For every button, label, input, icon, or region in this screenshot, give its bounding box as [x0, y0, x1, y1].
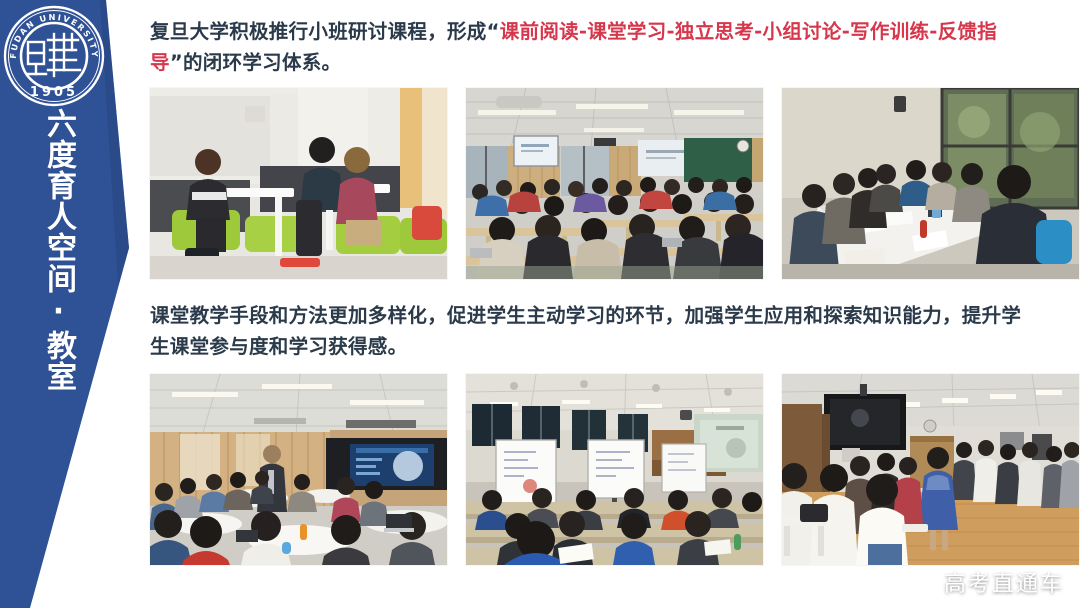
quote-close: ”	[170, 51, 183, 74]
quote-open: “	[487, 20, 500, 43]
svg-text:1905: 1905	[30, 85, 78, 100]
photo-row-1	[150, 88, 1079, 279]
slide-canvas: FUDAN UNIVERSITY 1905	[0, 0, 1080, 608]
photo-row-2	[150, 374, 1079, 565]
paragraph-one-lead: 复旦大学积极推行小班研讨课程，形成	[150, 20, 487, 43]
paragraph-two: 课堂教学手段和方法更加多样化，促进学生主动学习的环节，加强学生应用和探索知识能力…	[150, 300, 1040, 362]
photo-activity-studio	[782, 374, 1079, 565]
photo-seminar-table	[782, 88, 1079, 279]
photo-lecture-hall-full	[466, 88, 763, 279]
paragraph-two-text: 课堂教学手段和方法更加多样化，促进学生主动学习的环节，加强学生应用和探索知识能力…	[150, 304, 1021, 358]
photo-lounge-discussion	[150, 88, 447, 279]
paragraph-one: 复旦大学积极推行小班研讨课程，形成“课前阅读-课堂学习-独立思考-小组讨论-写作…	[150, 16, 1040, 78]
photo-whiteboard-hall	[466, 374, 763, 565]
banner-content: FUDAN UNIVERSITY 1905	[0, 0, 140, 608]
slide-content: 复旦大学积极推行小班研讨课程，形成“课前阅读-课堂学习-独立思考-小组讨论-写作…	[150, 0, 1080, 608]
banner-vertical-title: 六度育人空间·教室	[14, 108, 76, 392]
photo-smart-classroom	[150, 374, 447, 565]
paragraph-one-tail: 的闭环学习体系。	[183, 51, 341, 74]
watermark-text: 高考直通车	[944, 566, 1064, 598]
fudan-university-seal-icon: FUDAN UNIVERSITY 1905	[2, 4, 106, 108]
